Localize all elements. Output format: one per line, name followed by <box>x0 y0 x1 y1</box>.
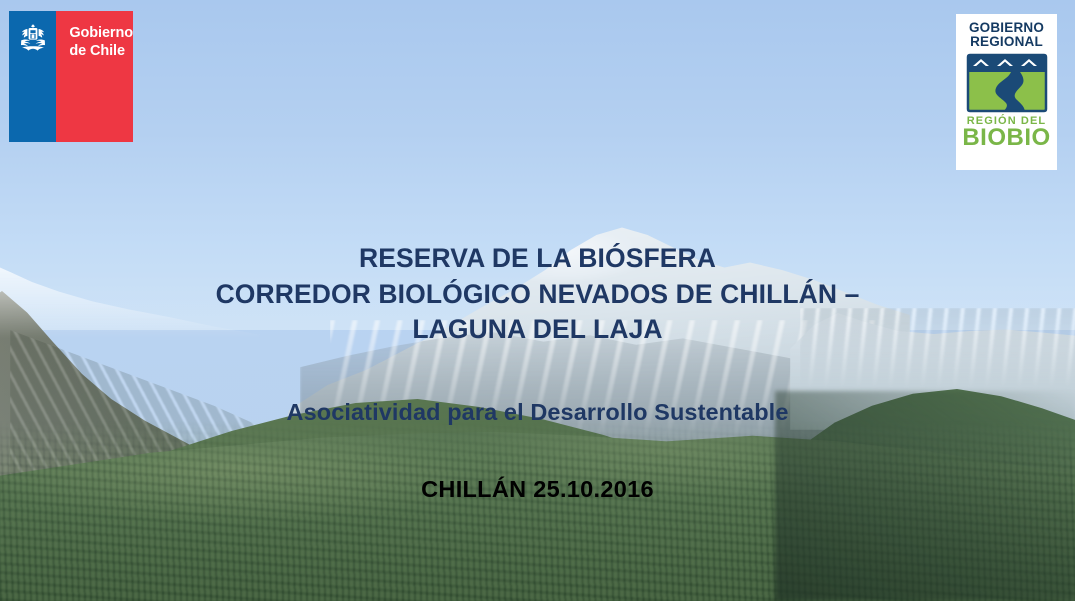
biobio-label: BIOBIO <box>962 126 1051 150</box>
mountains-river-landscape-icon <box>965 52 1049 114</box>
gobierno-de-chile-logo: Gobierno de Chile <box>9 11 133 142</box>
presentation-slide: Gobierno de Chile GOBIERNO REGIONAL REGI… <box>0 0 1075 601</box>
chile-coat-of-arms-icon <box>16 23 50 53</box>
title-block: RESERVA DE LA BIÓSFERA CORREDOR BIOLÓGIC… <box>0 240 1075 503</box>
location-date: CHILLÁN 25.10.2016 <box>40 476 1035 503</box>
gobierno-regional-biobio-logo: GOBIERNO REGIONAL REGIÓN DEL BIOBIO <box>956 14 1057 170</box>
gobierno-de-chile-label: Gobierno de Chile <box>69 25 133 60</box>
title-line-1: RESERVA DE LA BIÓSFERA <box>40 240 1035 277</box>
title-line-3: LAGUNA DEL LAJA <box>40 312 1035 347</box>
subtitle: Asociatividad para el Desarrollo Sustent… <box>40 399 1035 426</box>
title-line-2: CORREDOR BIOLÓGICO NEVADOS DE CHILLÁN – <box>40 277 1035 312</box>
logo-red-panel: Gobierno de Chile <box>56 11 133 142</box>
logo-blue-panel <box>9 11 56 142</box>
gobierno-regional-label: GOBIERNO REGIONAL <box>962 21 1051 49</box>
